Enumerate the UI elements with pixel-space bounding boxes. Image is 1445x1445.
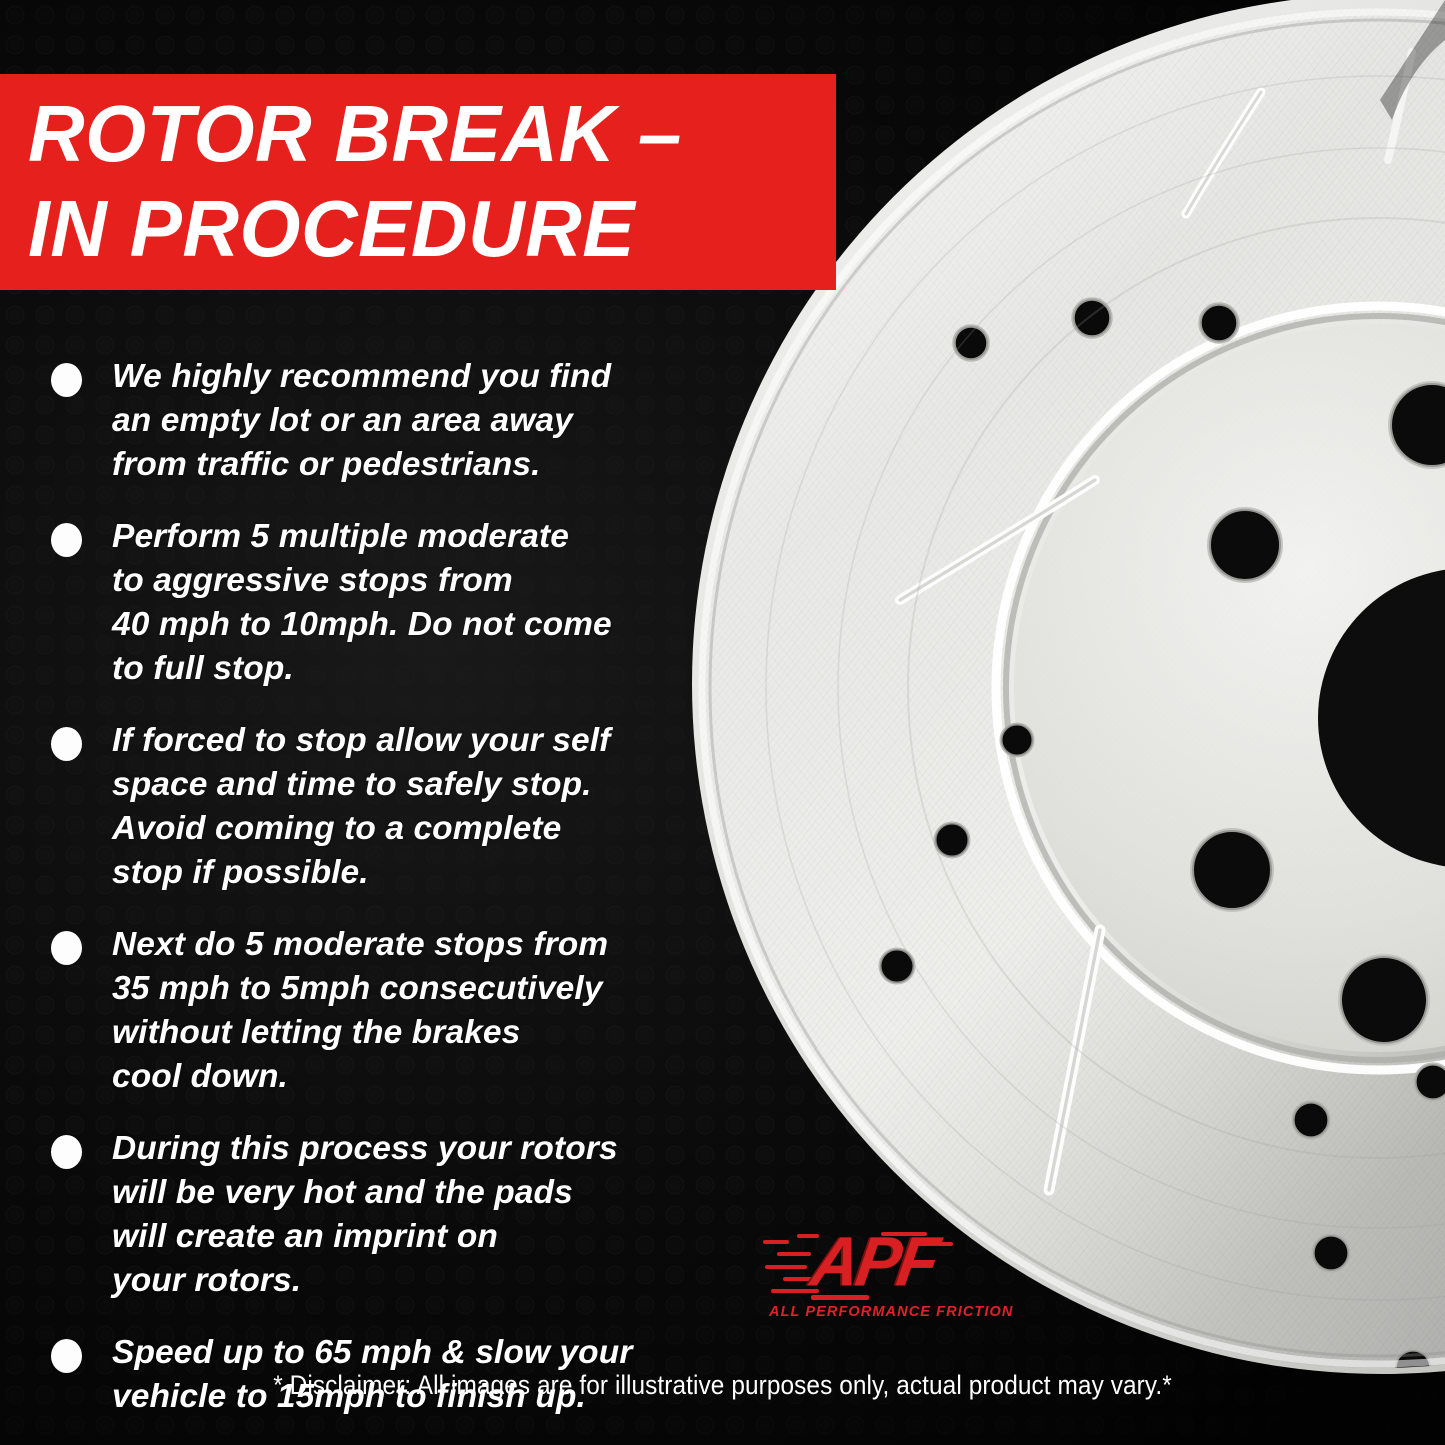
list-item: Perform 5 multiple moderate to aggressiv…	[46, 515, 776, 691]
apf-wordmark: APF	[807, 1226, 941, 1296]
apf-wordmark-group: APF	[763, 1232, 973, 1304]
bullet-dot-icon	[51, 1339, 82, 1373]
speed-streak-icon	[765, 1265, 807, 1269]
instruction-list: We highly recommend you find an empty lo…	[46, 355, 776, 1445]
bullet-dot-icon	[51, 523, 82, 557]
list-item: During this process your rotors will be …	[46, 1127, 776, 1303]
page-title-line-1: ROTOR BREAK –	[28, 86, 820, 181]
speed-streak-icon	[777, 1252, 811, 1256]
speed-streak-icon	[763, 1240, 789, 1244]
list-item: If forced to stop allow your self space …	[46, 719, 776, 895]
bullet-dot-icon	[51, 1135, 82, 1169]
title-banner: ROTOR BREAK – IN PROCEDURE	[0, 74, 836, 290]
page-title-line-2: IN PROCEDURE	[28, 181, 820, 276]
list-item-text: During this process your rotors will be …	[112, 1127, 776, 1303]
list-item-text: Next do 5 moderate stops from 35 mph to …	[112, 923, 776, 1099]
list-item: Next do 5 moderate stops from 35 mph to …	[46, 923, 776, 1099]
list-item-text: We highly recommend you find an empty lo…	[112, 355, 776, 487]
list-item-text: If forced to stop allow your self space …	[112, 719, 776, 895]
apf-logo: APF ALL PERFORMANCE FRICTION	[763, 1232, 973, 1332]
disclaimer-text: * Disclaimer: All images are for illustr…	[58, 1370, 1387, 1401]
bullet-dot-icon	[51, 931, 82, 965]
apf-tagline: ALL PERFORMANCE FRICTION	[769, 1304, 1013, 1320]
bullet-dot-icon	[51, 727, 82, 761]
promo-graphic: ROTOR BREAK – IN PROCEDURE We highly rec…	[0, 0, 1445, 1445]
list-item-text: Perform 5 multiple moderate to aggressiv…	[112, 515, 776, 691]
bullet-dot-icon	[51, 363, 82, 397]
list-item: We highly recommend you find an empty lo…	[46, 355, 776, 487]
